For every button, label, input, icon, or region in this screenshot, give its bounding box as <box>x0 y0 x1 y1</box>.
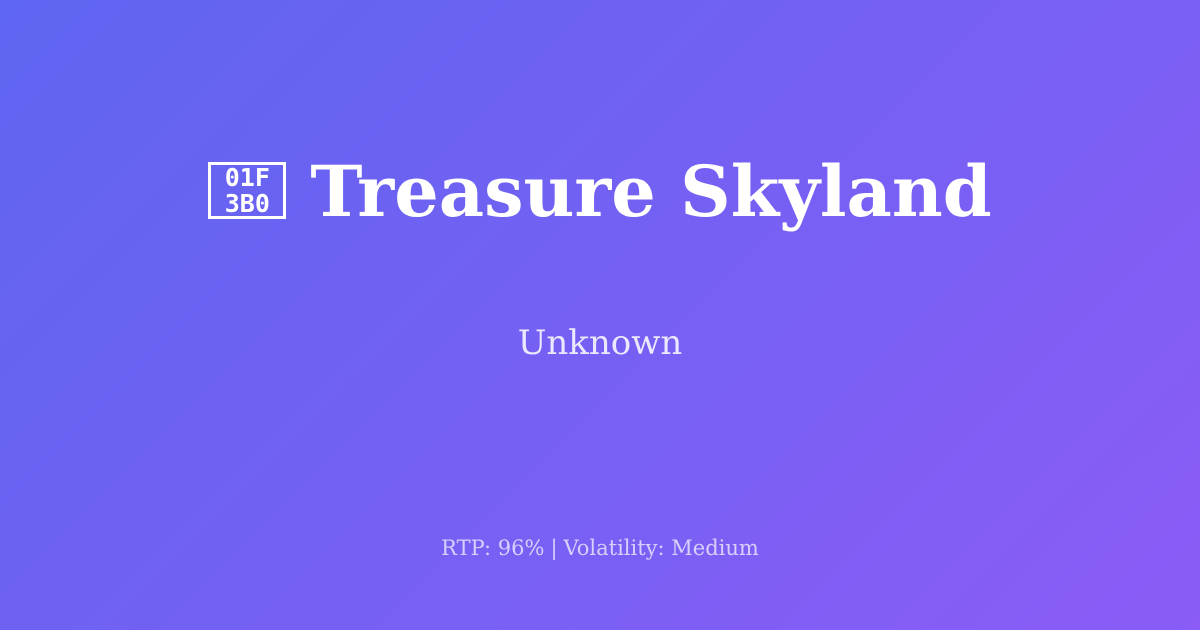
slot-machine-icon: 01F 3B0 <box>208 162 286 219</box>
meta-separator: | <box>544 536 563 560</box>
tofu-codepoint-bottom: 3B0 <box>225 191 270 216</box>
game-meta-line: RTP: 96%|Volatility: Medium <box>0 534 1200 562</box>
title-row: 01F 3B0 Treasure Skyland <box>208 107 991 277</box>
tofu-codepoint-top: 01F <box>225 165 270 190</box>
rtp-label: RTP: 96% <box>441 536 544 560</box>
hero-block: 01F 3B0 Treasure Skyland Unknown <box>0 0 1200 470</box>
volatility-label: Volatility: Medium <box>564 536 759 560</box>
page-title: Treasure Skyland <box>310 154 991 230</box>
provider-name: Unknown <box>518 323 683 363</box>
og-preview-card: 01F 3B0 Treasure Skyland Unknown RTP: 96… <box>0 0 1200 630</box>
